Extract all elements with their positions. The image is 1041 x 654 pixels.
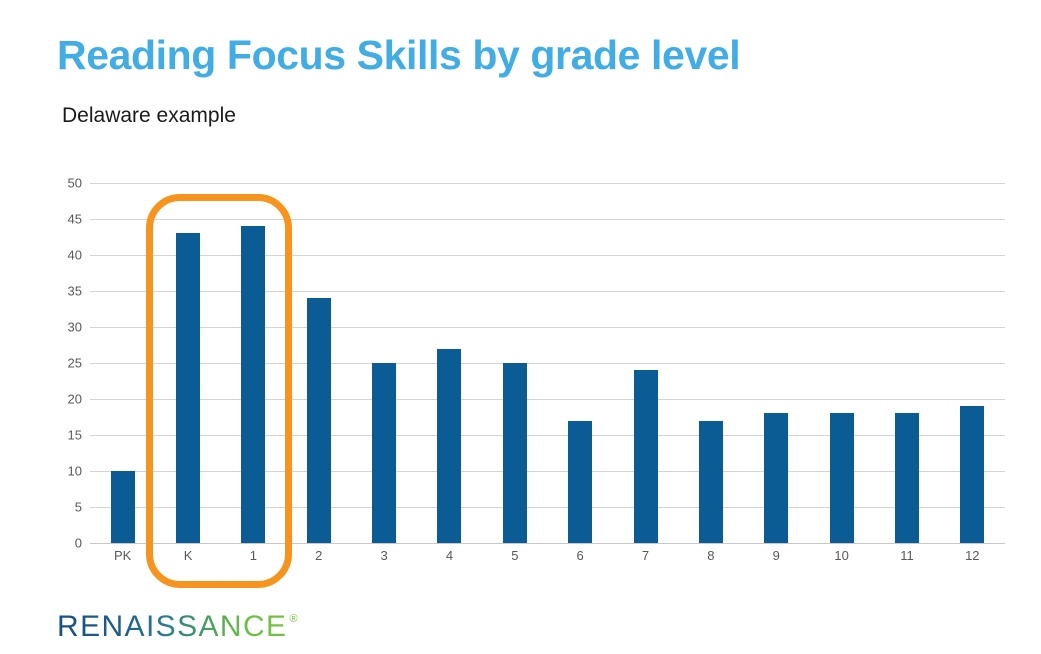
y-axis-tick-30: 30 — [48, 321, 82, 334]
x-axis-tick-9: 9 — [773, 548, 780, 564]
bar-slot — [221, 183, 286, 543]
y-axis-labels: 05101520253035404550 — [48, 183, 82, 543]
page-subtitle: Delaware example — [62, 104, 236, 127]
bar-11[interactable] — [895, 413, 919, 543]
gridline-0 — [90, 543, 1005, 544]
bar-series — [90, 183, 1005, 543]
bar-10[interactable] — [830, 413, 854, 543]
bar-6[interactable] — [568, 421, 592, 543]
bar-7[interactable] — [634, 370, 658, 543]
bar-slot — [155, 183, 220, 543]
x-axis-tick-1: 1 — [250, 548, 257, 564]
x-axis-tick-8: 8 — [707, 548, 714, 564]
x-axis-tick-6: 6 — [577, 548, 584, 564]
bar-slot — [613, 183, 678, 543]
x-axis-tick-5: 5 — [511, 548, 518, 564]
x-axis-tick-4: 4 — [446, 548, 453, 564]
bar-slot — [940, 183, 1005, 543]
x-axis-tick-3: 3 — [380, 548, 387, 564]
x-axis-tick-K: K — [184, 548, 193, 564]
bar-12[interactable] — [960, 406, 984, 543]
y-axis-tick-40: 40 — [48, 249, 82, 262]
x-axis-tick-10: 10 — [834, 548, 848, 564]
bar-5[interactable] — [503, 363, 527, 543]
bar-8[interactable] — [699, 421, 723, 543]
x-axis-labels: PKK123456789101112 — [90, 548, 1005, 570]
y-axis-tick-50: 50 — [48, 177, 82, 190]
y-axis-tick-45: 45 — [48, 213, 82, 226]
chart-container: Reading Focus Skills by grade level Dela… — [0, 0, 1041, 654]
x-axis-tick-11: 11 — [900, 548, 914, 564]
bar-slot — [548, 183, 613, 543]
bar-slot — [744, 183, 809, 543]
bar-3[interactable] — [372, 363, 396, 543]
y-axis-tick-20: 20 — [48, 393, 82, 406]
logo-wordmark: RENAISSANCE — [57, 612, 287, 642]
page-title: Reading Focus Skills by grade level — [57, 34, 740, 77]
renaissance-logo: RENAISSANCE ® — [57, 612, 298, 646]
y-axis-tick-5: 5 — [48, 501, 82, 514]
bar-4[interactable] — [437, 349, 461, 543]
bar-K[interactable] — [176, 233, 200, 543]
bar-PK[interactable] — [111, 471, 135, 543]
y-axis-tick-0: 0 — [48, 537, 82, 550]
bar-slot — [678, 183, 743, 543]
y-axis-tick-25: 25 — [48, 357, 82, 370]
y-axis-tick-15: 15 — [48, 429, 82, 442]
y-axis-tick-10: 10 — [48, 465, 82, 478]
x-axis-tick-PK: PK — [114, 548, 131, 564]
bar-slot — [286, 183, 351, 543]
bar-slot — [482, 183, 547, 543]
x-axis-tick-2: 2 — [315, 548, 322, 564]
bar-slot — [90, 183, 155, 543]
y-axis-tick-35: 35 — [48, 285, 82, 298]
bar-slot — [874, 183, 939, 543]
bar-slot — [351, 183, 416, 543]
x-axis-tick-7: 7 — [642, 548, 649, 564]
bar-2[interactable] — [307, 298, 331, 543]
bar-slot — [809, 183, 874, 543]
bar-1[interactable] — [241, 226, 265, 543]
bar-slot — [417, 183, 482, 543]
registered-trademark-icon: ® — [289, 614, 297, 625]
bar-9[interactable] — [764, 413, 788, 543]
x-axis-tick-12: 12 — [965, 548, 979, 564]
